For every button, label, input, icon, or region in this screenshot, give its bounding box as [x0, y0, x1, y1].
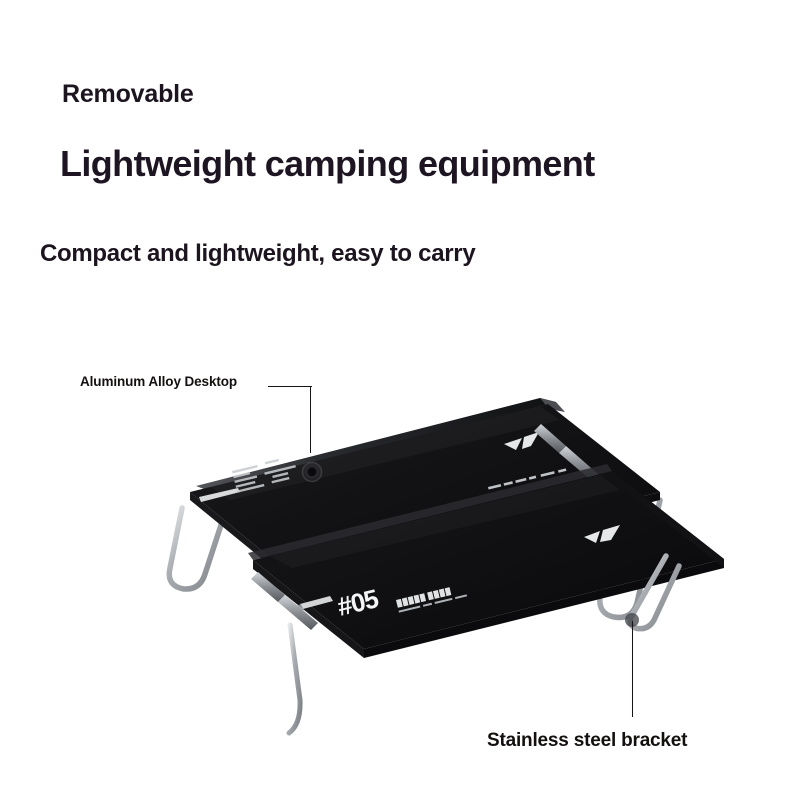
callout-leader-line-top-horizontal	[268, 386, 312, 387]
product-marketing-image: Removable Lightweight camping equipment …	[0, 0, 800, 800]
callout-leader-line-top-vertical	[310, 386, 311, 453]
callout-label-stainless-steel-bracket: Stainless steel bracket	[487, 730, 687, 752]
leg-front-left	[289, 625, 300, 733]
product-illustration: #05	[0, 0, 800, 800]
leg-rear-left	[169, 508, 222, 589]
grommet-hole	[303, 463, 322, 482]
callout-leader-line-bottom-vertical	[632, 621, 633, 717]
callout-label-aluminum-alloy-desktop: Aluminum Alloy Desktop	[80, 374, 237, 389]
